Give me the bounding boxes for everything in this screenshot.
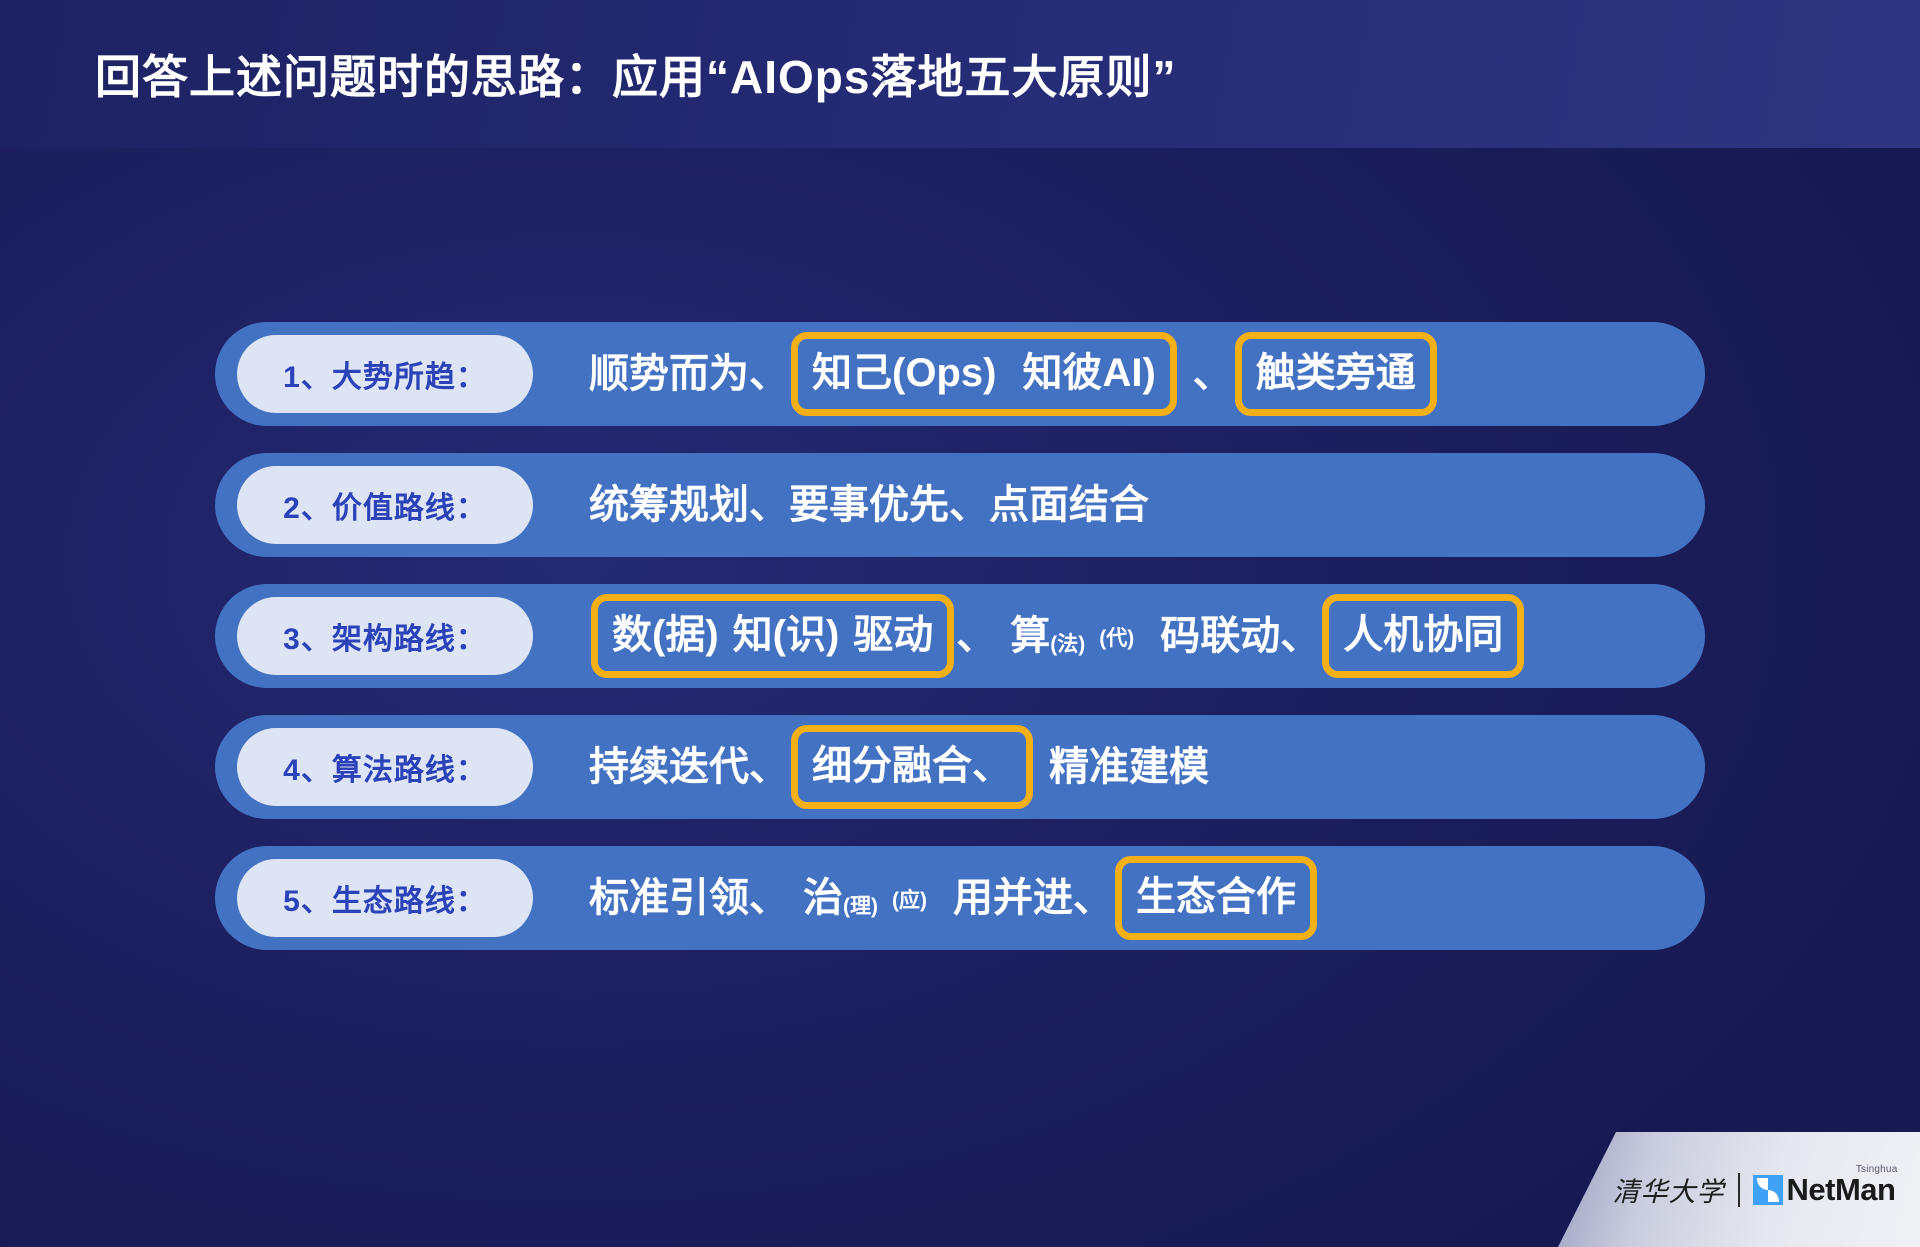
principle-label-pill-2: 2、价值路线：	[237, 466, 533, 544]
principle-row-4[interactable]: 4、算法路线： 持续迭代、 细分融合、 精准建模	[215, 715, 1705, 819]
netman-mark-icon	[1753, 1175, 1783, 1205]
netman-wordmark: NetMan	[1787, 1174, 1896, 1205]
segment-annotation: AI)	[1102, 353, 1155, 393]
segment-text: 人机协同	[1343, 615, 1503, 655]
highlight-box-renji-xietong: 人机协同	[1322, 594, 1524, 678]
tsinghua-university-logo: 清华大学	[1613, 1170, 1725, 1209]
page-title: 回答上述问题时的思路：应用“AIOps落地五大原则”	[95, 41, 1176, 107]
principle-content-2: 统筹规划、要事优先、点面结合	[589, 485, 1705, 525]
footer-logo-inner: 清华大学 NetMan Tsinghua	[1583, 1170, 1896, 1209]
segment-plain: 顺势而为、	[589, 354, 789, 394]
principle-label-3: 3、架构路线：	[283, 614, 487, 658]
netman-logo: NetMan Tsinghua	[1753, 1174, 1896, 1205]
principle-row-5[interactable]: 5、生态路线： 标准引领、 治(理) (应) 用并进、 生态合作	[215, 846, 1705, 950]
principle-content-4: 持续迭代、 细分融合、 精准建模	[589, 725, 1705, 809]
principle-row-2[interactable]: 2、价值路线： 统筹规划、要事优先、点面结合	[215, 453, 1705, 557]
principle-row-1[interactable]: 1、大势所趋： 顺势而为、 知己(Ops)知彼AI) 、 触类旁通	[215, 322, 1705, 426]
segment-text: 生态合作	[1136, 877, 1296, 917]
segment-plain: 精准建模	[1049, 747, 1209, 787]
highlight-box-chuleipangtong: 触类旁通	[1235, 332, 1437, 416]
principles-list: 1、大势所趋： 顺势而为、 知己(Ops)知彼AI) 、 触类旁通 2、价值路线…	[215, 322, 1715, 977]
segment-plain: 统筹规划、要事优先、点面结合	[589, 485, 1149, 525]
highlight-box-shengtai-hezuo: 生态合作	[1115, 856, 1317, 940]
highlight-box-xifen-ronghe: 细分融合、	[791, 725, 1033, 809]
segment-text: 数	[612, 615, 652, 655]
segment-annotation: (识)	[773, 615, 840, 655]
segment-suan: 算(法)	[1010, 616, 1085, 656]
segment-text: 知己	[812, 353, 892, 393]
principle-label-4: 4、算法路线：	[283, 745, 487, 789]
principle-label-pill-4: 4、算法路线：	[237, 728, 533, 806]
highlight-box-zhiji-zhibi: 知己(Ops)知彼AI)	[791, 332, 1177, 416]
segment-zhi: 治(理)	[803, 878, 878, 918]
segment-ying: (应)	[892, 888, 927, 909]
segment-text: 细分融合、	[812, 746, 1012, 786]
segment-text: 驱动	[853, 615, 933, 655]
segment-text: 知彼	[1022, 353, 1102, 393]
slide-canvas: 回答上述问题时的思路：应用“AIOps落地五大原则” 1、大势所趋： 顺势而为、…	[0, 0, 1920, 1247]
netman-superscript: Tsinghua	[1856, 1164, 1898, 1175]
segment-text: 触类旁通	[1256, 353, 1416, 393]
segment-plain: 持续迭代、	[589, 747, 789, 787]
footer-logo-plate: 清华大学 NetMan Tsinghua	[1558, 1132, 1920, 1247]
segment-annotation: (据)	[652, 615, 719, 655]
segment-plain: 用并进、	[953, 878, 1113, 918]
segment-plain: 、	[956, 616, 996, 656]
principle-content-1: 顺势而为、 知己(Ops)知彼AI) 、 触类旁通	[589, 332, 1705, 416]
segment-plain: 、	[1193, 354, 1233, 394]
segment-plain: 标准引领、	[589, 878, 789, 918]
title-band: 回答上述问题时的思路：应用“AIOps落地五大原则”	[0, 0, 1920, 148]
principle-row-3[interactable]: 3、架构路线： 数(据)知(识)驱动 、 算(法) (代) 码联动、 人机协同	[215, 584, 1705, 688]
principle-label-pill-3: 3、架构路线：	[237, 597, 533, 675]
highlight-box-shuzhi-qudong: 数(据)知(识)驱动	[591, 594, 954, 678]
segment-annotation: (Ops)	[892, 353, 996, 393]
principle-label-pill-1: 1、大势所趋：	[237, 335, 533, 413]
segment-dai: (代)	[1099, 626, 1134, 647]
principle-label-pill-5: 5、生态路线：	[237, 859, 533, 937]
principle-label-1: 1、大势所趋：	[283, 352, 487, 396]
principle-content-5: 标准引领、 治(理) (应) 用并进、 生态合作	[589, 856, 1705, 940]
principle-content-3: 数(据)知(识)驱动 、 算(法) (代) 码联动、 人机协同	[589, 594, 1705, 678]
principle-label-2: 2、价值路线：	[283, 483, 487, 527]
principle-label-5: 5、生态路线：	[283, 876, 487, 920]
segment-plain: 码联动、	[1160, 616, 1320, 656]
logo-divider	[1738, 1173, 1740, 1207]
segment-text: 知	[733, 615, 773, 655]
